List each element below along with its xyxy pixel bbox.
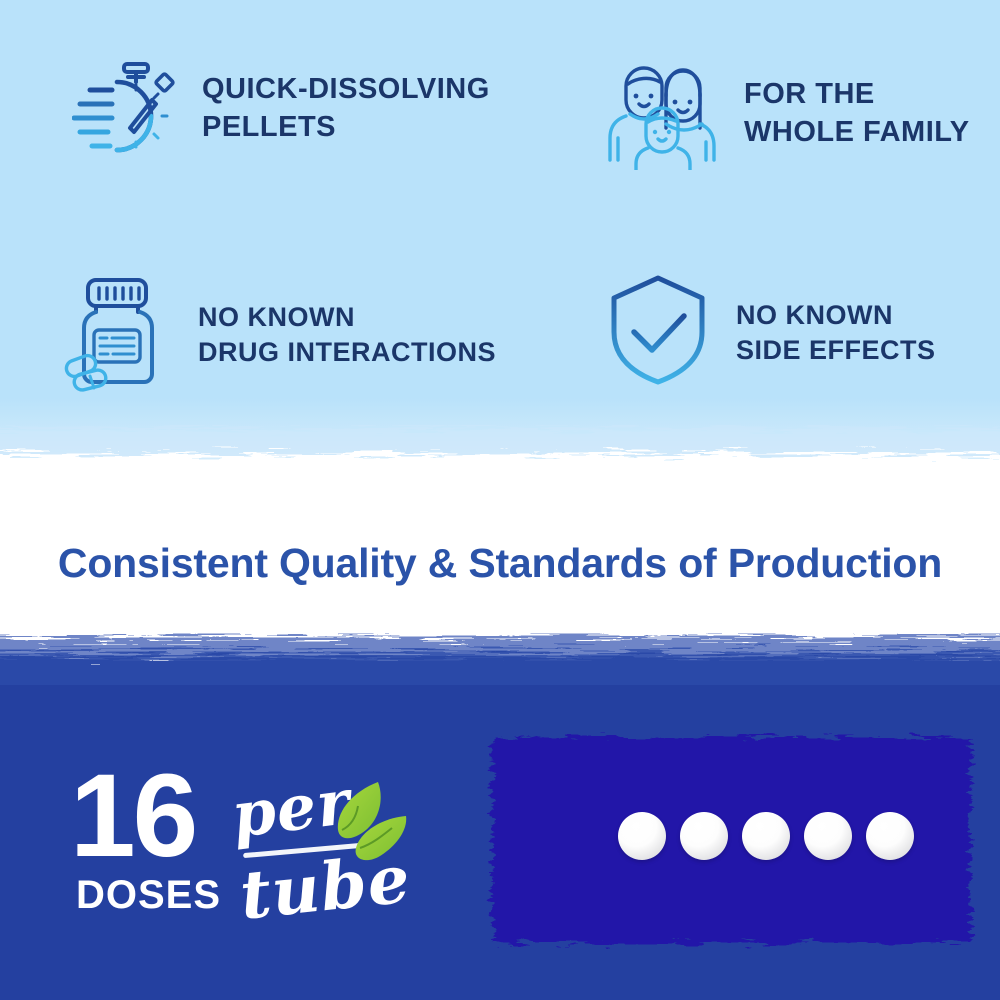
feature-label-line1: QUICK-DISSOLVING bbox=[202, 73, 490, 105]
feature-whole-family: FOR THE WHOLE FAMILY bbox=[604, 52, 970, 175]
feature-label-line1: FOR THE bbox=[744, 78, 875, 110]
pill-bottle-icon bbox=[62, 272, 174, 397]
mint-leaf-icon bbox=[322, 778, 414, 881]
feature-label: QUICK-DISSOLVING PELLETS bbox=[202, 71, 490, 145]
feature-label-line2: PELLETS bbox=[202, 109, 490, 146]
feature-side-effects: NO KNOWN SIDE EFFECTS bbox=[606, 272, 936, 393]
shield-check-icon bbox=[606, 272, 710, 393]
feature-label: NO KNOWN SIDE EFFECTS bbox=[736, 298, 936, 367]
feature-label-line2: WHOLE FAMILY bbox=[744, 114, 970, 151]
stopwatch-icon bbox=[72, 52, 180, 165]
feature-label-line1: NO KNOWN bbox=[198, 302, 355, 332]
feature-label-line2: DRUG INTERACTIONS bbox=[198, 335, 496, 370]
pellet-icon bbox=[680, 812, 728, 860]
dose-count-block: 16 DOSES bbox=[70, 762, 221, 918]
page-title: Consistent Quality & Standards of Produc… bbox=[0, 540, 1000, 587]
feature-label-line2: SIDE EFFECTS bbox=[736, 333, 936, 368]
pellets-row bbox=[618, 812, 914, 860]
pellet-icon bbox=[742, 812, 790, 860]
infographic-page: QUICK-DISSOLVING PELLETS bbox=[0, 0, 1000, 1000]
family-icon bbox=[604, 52, 722, 175]
pellet-icon bbox=[804, 812, 852, 860]
pellet-icon bbox=[618, 812, 666, 860]
dose-number: 16 bbox=[70, 762, 221, 871]
dose-label: DOSES bbox=[76, 873, 221, 918]
feature-label: NO KNOWN DRUG INTERACTIONS bbox=[198, 300, 496, 369]
feature-label-line1: NO KNOWN bbox=[736, 300, 893, 330]
feature-label: FOR THE WHOLE FAMILY bbox=[744, 76, 970, 150]
feature-drug-interactions: NO KNOWN DRUG INTERACTIONS bbox=[62, 272, 496, 397]
pellet-icon bbox=[866, 812, 914, 860]
feature-quick-dissolving: QUICK-DISSOLVING PELLETS bbox=[72, 52, 490, 165]
